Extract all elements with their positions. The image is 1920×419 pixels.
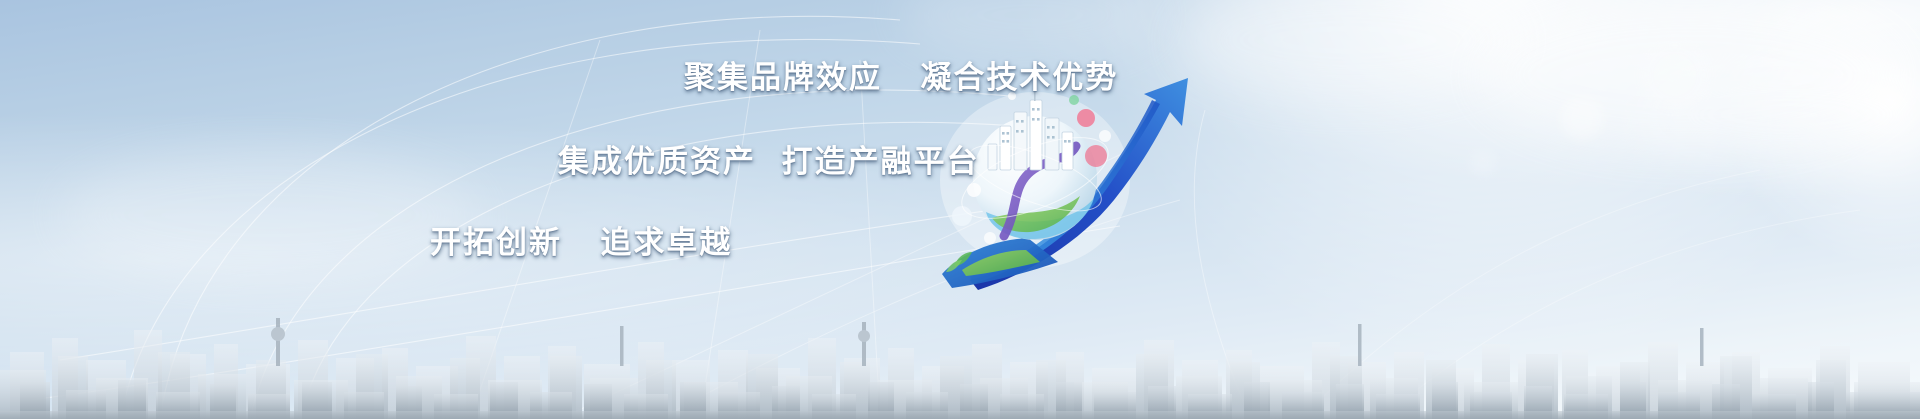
slogan-line-2: 集成优质资产 打造产融平台 (558, 136, 980, 181)
slogan-line-3: 开拓创新 追求卓越 (430, 217, 732, 262)
city-skyline-silhouette (0, 294, 1920, 419)
corporate-hero-banner: 聚集品牌效应 凝合技术优势 集成优质资产 打造产融平台 开拓创新 追求卓越 (0, 0, 1920, 419)
ground-strip (0, 411, 1920, 419)
slogan-line-1: 聚集品牌效应 凝合技术优势 (684, 52, 1118, 97)
